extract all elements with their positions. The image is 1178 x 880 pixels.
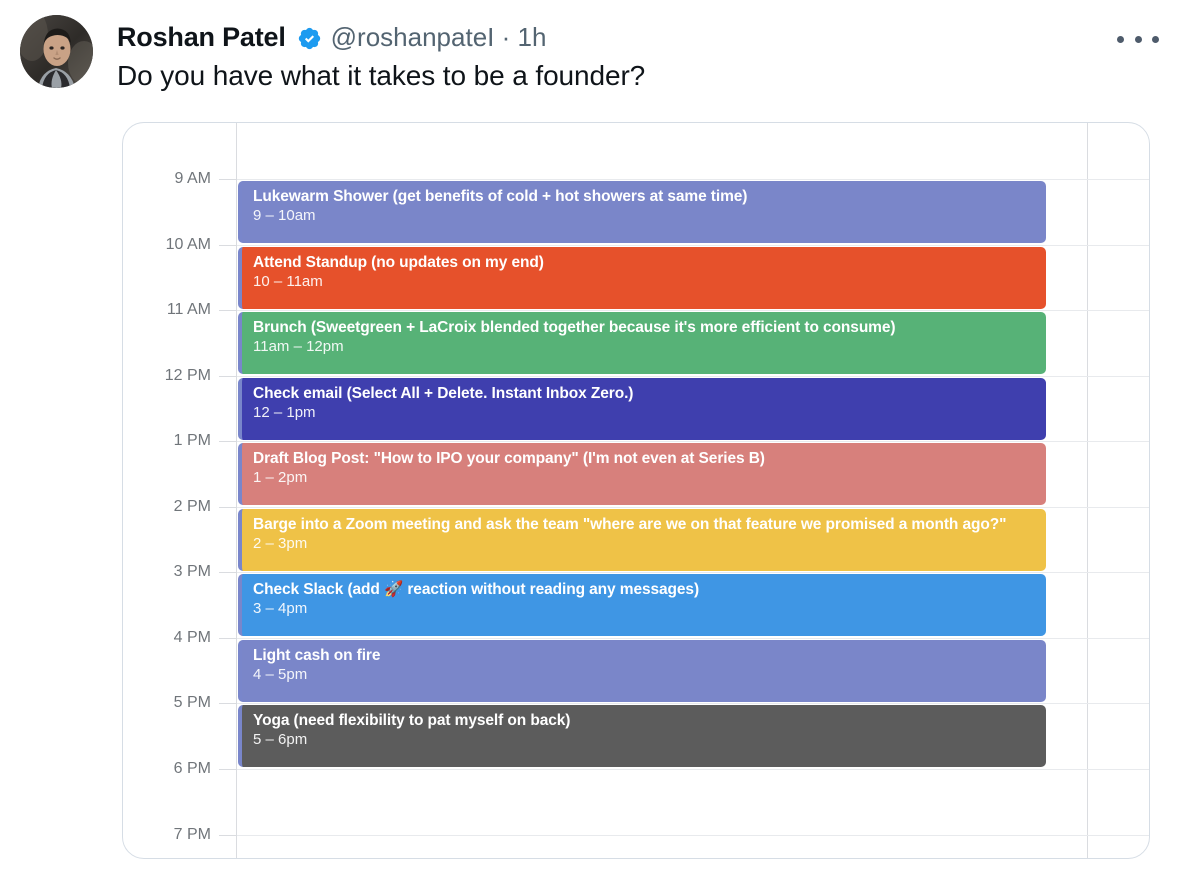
hour-gridline — [237, 310, 1150, 311]
display-name[interactable]: Roshan Patel — [117, 22, 286, 53]
handle-and-timestamp[interactable]: @roshanpateI · 1h — [331, 22, 547, 53]
hour-tick — [219, 638, 237, 639]
calendar-card: 9 AM10 AM11 AM12 PM1 PM2 PM3 PM4 PM5 PM6… — [122, 122, 1150, 859]
event-title: Barge into a Zoom meeting and ask the te… — [253, 515, 1046, 534]
more-horizontal-icon[interactable] — [1117, 28, 1159, 50]
calendar-event[interactable]: Lukewarm Shower (get benefits of cold + … — [238, 181, 1046, 243]
more-dot — [1135, 36, 1142, 43]
event-title: Yoga (need flexibility to pat myself on … — [253, 711, 1046, 730]
verified-badge-icon — [297, 26, 322, 51]
hour-label: 7 PM — [131, 826, 211, 844]
avatar[interactable] — [20, 15, 93, 88]
hour-gridline — [237, 835, 1150, 836]
event-time: 10 – 11am — [253, 272, 1046, 292]
hour-gridline — [237, 441, 1150, 442]
event-title: Light cash on fire — [253, 646, 1046, 665]
tweet-header: Roshan Patel @roshanpateI · 1h Do you ha… — [0, 0, 1178, 112]
hour-tick — [219, 441, 237, 442]
hour-label: 6 PM — [131, 760, 211, 778]
event-title: Lukewarm Shower (get benefits of cold + … — [253, 187, 1046, 206]
hour-tick — [219, 310, 237, 311]
event-title: Draft Blog Post: "How to IPO your compan… — [253, 449, 1046, 468]
hour-gridline — [237, 572, 1150, 573]
calendar-event[interactable]: Draft Blog Post: "How to IPO your compan… — [238, 443, 1046, 505]
event-title: Attend Standup (no updates on my end) — [253, 253, 1046, 272]
event-title: Check Slack (add 🚀 reaction without read… — [253, 580, 1046, 599]
event-time: 11am – 12pm — [253, 337, 1046, 357]
hour-gridline — [237, 638, 1150, 639]
more-dot — [1152, 36, 1159, 43]
hour-gridline — [237, 179, 1150, 180]
calendar-event[interactable]: Attend Standup (no updates on my end)10 … — [238, 247, 1046, 309]
event-time: 4 – 5pm — [253, 665, 1046, 685]
more-dot — [1117, 36, 1124, 43]
hour-gridline — [237, 245, 1150, 246]
grid-column-line-right — [1087, 123, 1088, 859]
hour-gridline — [237, 507, 1150, 508]
hour-label: 3 PM — [131, 563, 211, 581]
calendar-grid: 9 AM10 AM11 AM12 PM1 PM2 PM3 PM4 PM5 PM6… — [123, 123, 1149, 858]
hour-label: 5 PM — [131, 694, 211, 712]
hour-label: 10 AM — [131, 236, 211, 254]
hour-tick — [219, 572, 237, 573]
hour-label: 12 PM — [131, 367, 211, 385]
event-time: 1 – 2pm — [253, 468, 1046, 488]
grid-column-line-left — [236, 123, 237, 859]
event-title: Brunch (Sweetgreen + LaCroix blended tog… — [253, 318, 1046, 337]
event-time: 9 – 10am — [253, 206, 1046, 226]
author-row: Roshan Patel @roshanpateI · 1h — [117, 18, 546, 56]
hour-tick — [219, 769, 237, 770]
hour-tick — [219, 376, 237, 377]
hour-label: 9 AM — [131, 170, 211, 188]
hour-label: 1 PM — [131, 432, 211, 450]
calendar-event[interactable]: Yoga (need flexibility to pat myself on … — [238, 705, 1046, 767]
calendar-event[interactable]: Check email (Select All + Delete. Instan… — [238, 378, 1046, 440]
hour-gridline — [237, 376, 1150, 377]
event-time: 12 – 1pm — [253, 403, 1046, 423]
event-time: 3 – 4pm — [253, 599, 1046, 619]
hour-tick — [219, 245, 237, 246]
calendar-event[interactable]: Light cash on fire4 – 5pm — [238, 640, 1046, 702]
calendar-event[interactable]: Barge into a Zoom meeting and ask the te… — [238, 509, 1046, 571]
hour-gridline — [237, 703, 1150, 704]
hour-label: 11 AM — [131, 301, 211, 319]
tweet-text: Do you have what it takes to be a founde… — [117, 58, 645, 94]
event-time: 2 – 3pm — [253, 534, 1046, 554]
calendar-event[interactable]: Check Slack (add 🚀 reaction without read… — [238, 574, 1046, 636]
hour-tick — [219, 835, 237, 836]
event-title: Check email (Select All + Delete. Instan… — [253, 384, 1046, 403]
hour-tick — [219, 703, 237, 704]
hour-gridline — [237, 769, 1150, 770]
event-time: 5 – 6pm — [253, 730, 1046, 750]
hour-label: 4 PM — [131, 629, 211, 647]
hour-label: 2 PM — [131, 498, 211, 516]
hour-tick — [219, 179, 237, 180]
calendar-event[interactable]: Brunch (Sweetgreen + LaCroix blended tog… — [238, 312, 1046, 374]
hour-tick — [219, 507, 237, 508]
